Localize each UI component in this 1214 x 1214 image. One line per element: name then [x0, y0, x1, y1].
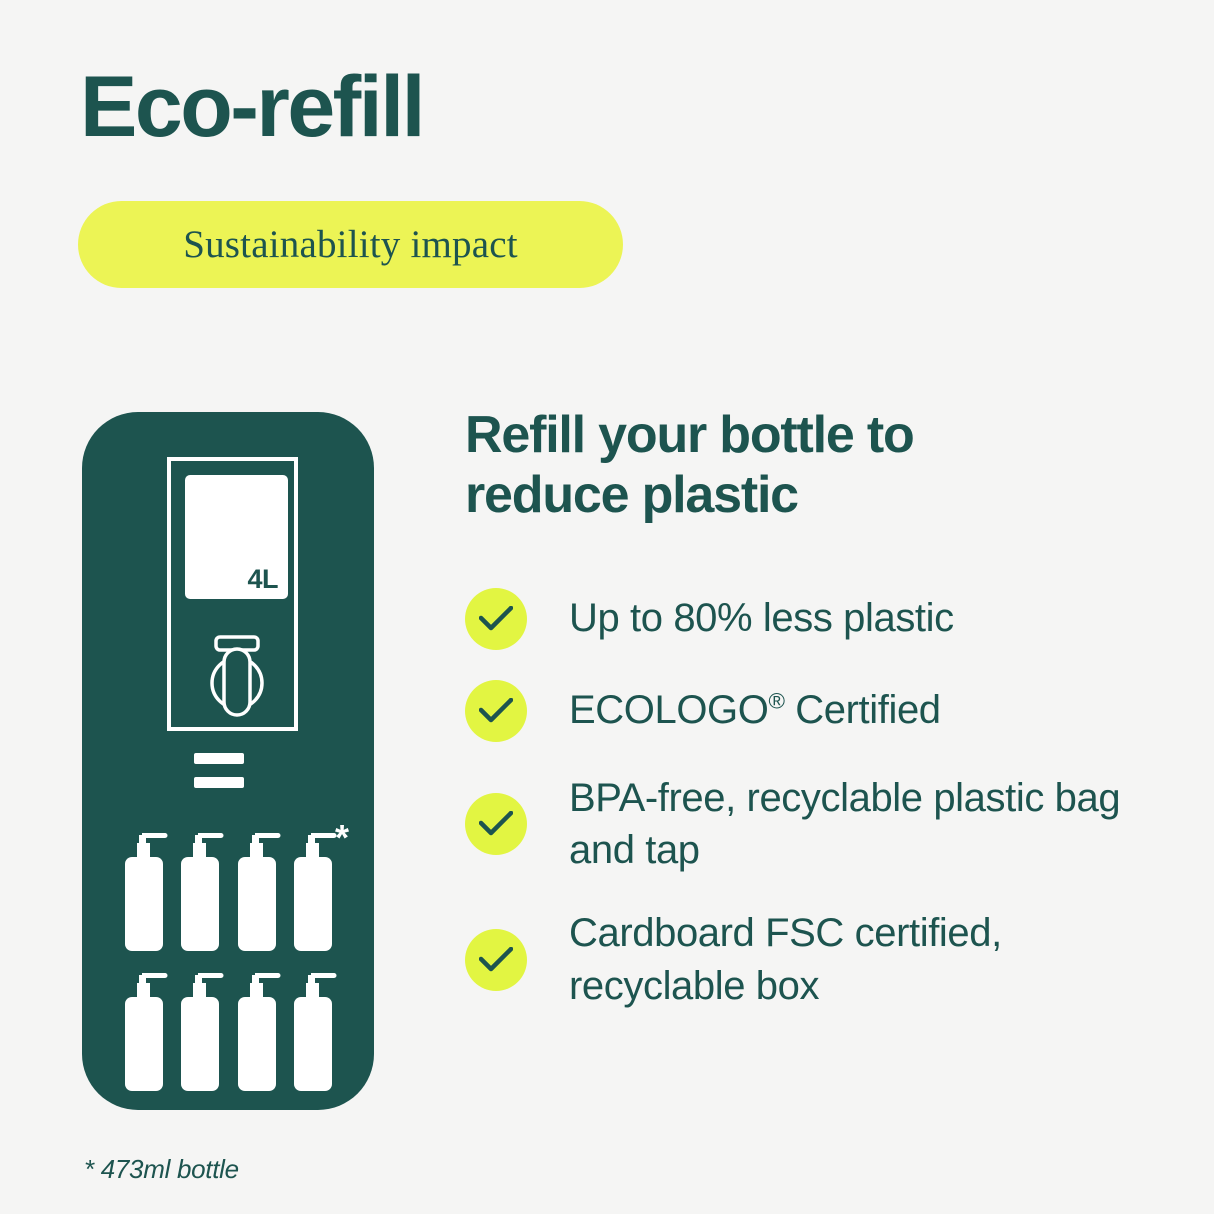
pump-bottle-icon: [122, 827, 169, 954]
feature-label-suffix: Certified: [785, 688, 941, 732]
check-icon: [465, 929, 527, 991]
check-icon: [465, 680, 527, 742]
feature-label-main: ECOLOGO: [569, 688, 768, 732]
footnote: * 473ml bottle: [84, 1154, 239, 1185]
check-icon: [465, 793, 527, 855]
subheading: Refill your bottle to reduce plastic: [465, 405, 1075, 526]
feature-label: BPA-free, recyclable plastic bag and tap: [569, 772, 1169, 878]
content-column: Refill your bottle to reduce plastic Up …: [465, 405, 1175, 1013]
refill-box-outline: 4L: [167, 457, 298, 731]
bottle-grid: [122, 827, 340, 1094]
pump-bottle-icon: [178, 967, 225, 1094]
list-item: Up to 80% less plastic: [465, 588, 1175, 650]
feature-label: Up to 80% less plastic: [569, 592, 954, 645]
pump-bottle-icon: [235, 967, 282, 1094]
refill-illustration-panel: 4L *: [82, 412, 374, 1110]
refill-volume-label: 4L: [247, 564, 278, 595]
list-item: Cardboard FSC certified, recyclable box: [465, 907, 1175, 1013]
feature-label: ECOLOGO® Certified: [569, 684, 941, 737]
registered-mark: ®: [768, 689, 784, 714]
pump-bottle-icon: [235, 827, 282, 954]
pump-bottle-icon: [291, 827, 338, 954]
page-title: Eco-refill: [80, 62, 423, 152]
badge-label: Sustainability impact: [183, 222, 518, 267]
check-icon: [465, 588, 527, 650]
feature-list: Up to 80% less plastic ECOLOGO® Certifie…: [465, 588, 1175, 1013]
feature-label: Cardboard FSC certified, recyclable box: [569, 907, 1169, 1013]
pump-bottle-icon: [291, 967, 338, 1094]
list-item: BPA-free, recyclable plastic bag and tap: [465, 772, 1175, 878]
tap-icon: [199, 635, 275, 717]
eco-refill-infographic: Eco-refill Sustainability impact 4L *: [0, 0, 1214, 1214]
refill-box-label: 4L: [185, 475, 288, 599]
pump-bottle-icon: [178, 827, 225, 954]
equals-sign: [194, 753, 244, 788]
pump-bottle-icon: [122, 967, 169, 1094]
sustainability-impact-badge: Sustainability impact: [78, 201, 623, 288]
list-item: ECOLOGO® Certified: [465, 680, 1175, 742]
